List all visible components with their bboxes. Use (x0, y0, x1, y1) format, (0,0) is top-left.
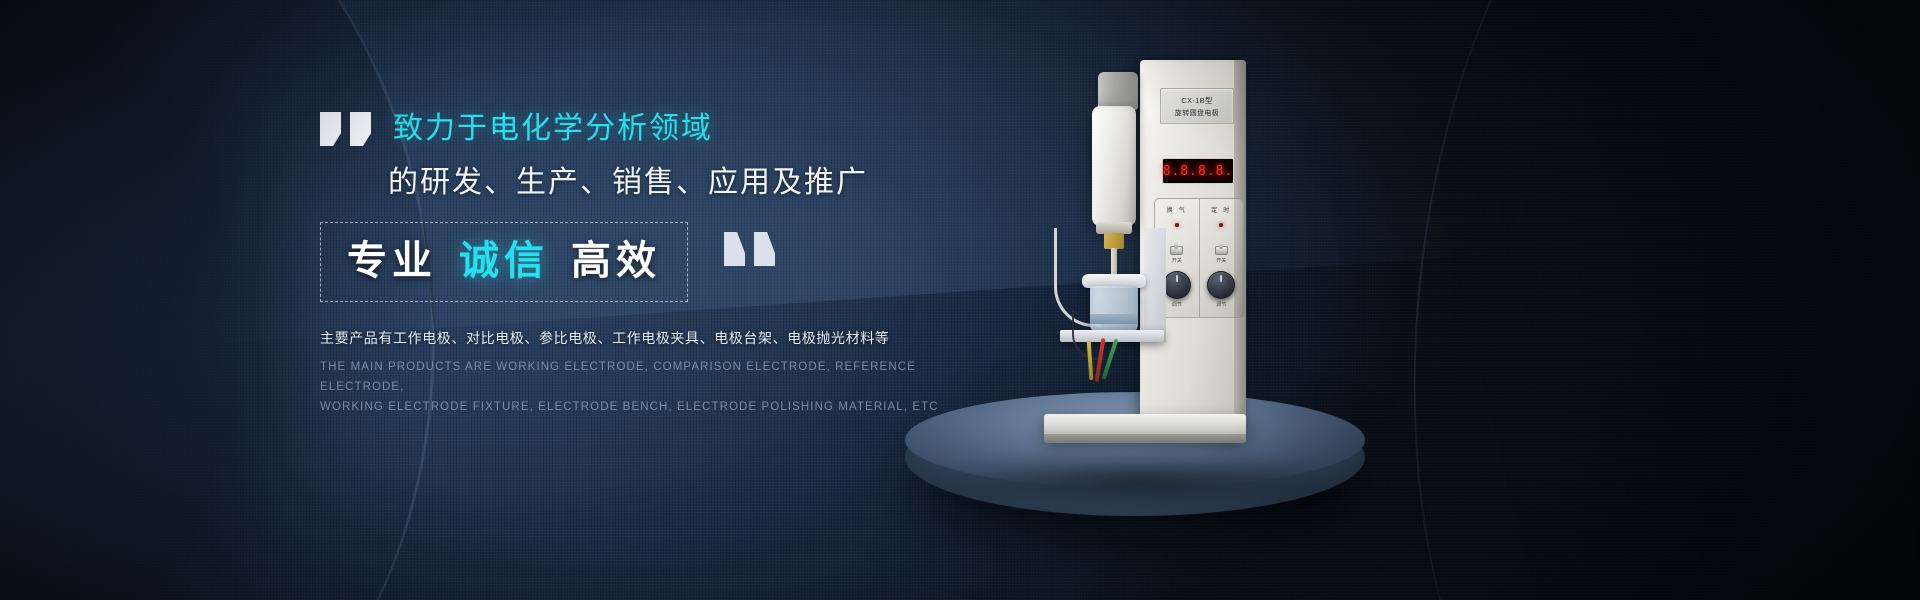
hero-banner: 致力于电化学分析领域 的研发、生产、销售、应用及推广 专业 诚信 高效 主要产品… (0, 0, 1920, 600)
vignette-overlay (0, 0, 1920, 600)
